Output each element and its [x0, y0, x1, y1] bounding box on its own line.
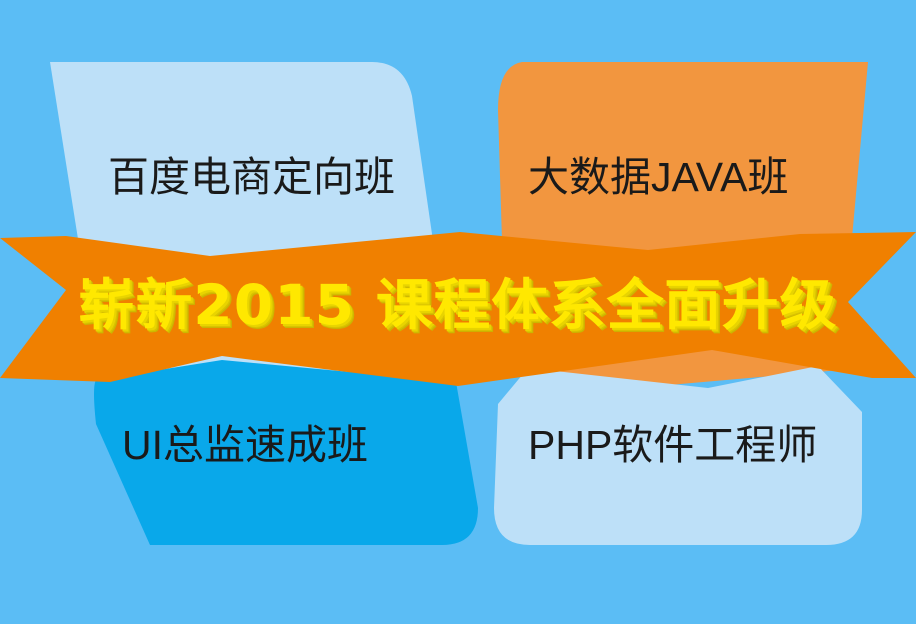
- card-label-top-left: 百度电商定向班: [108, 157, 395, 198]
- card-label-bottom-left: UI总监速成班: [122, 425, 368, 466]
- banner-artwork: [0, 0, 916, 624]
- promo-banner: 百度电商定向班 大数据JAVA班 UI总监速成班 PHP软件工程师 崭新2015…: [0, 0, 916, 624]
- card-label-top-right: 大数据JAVA班: [528, 157, 788, 198]
- card-label-bottom-right: PHP软件工程师: [528, 425, 817, 466]
